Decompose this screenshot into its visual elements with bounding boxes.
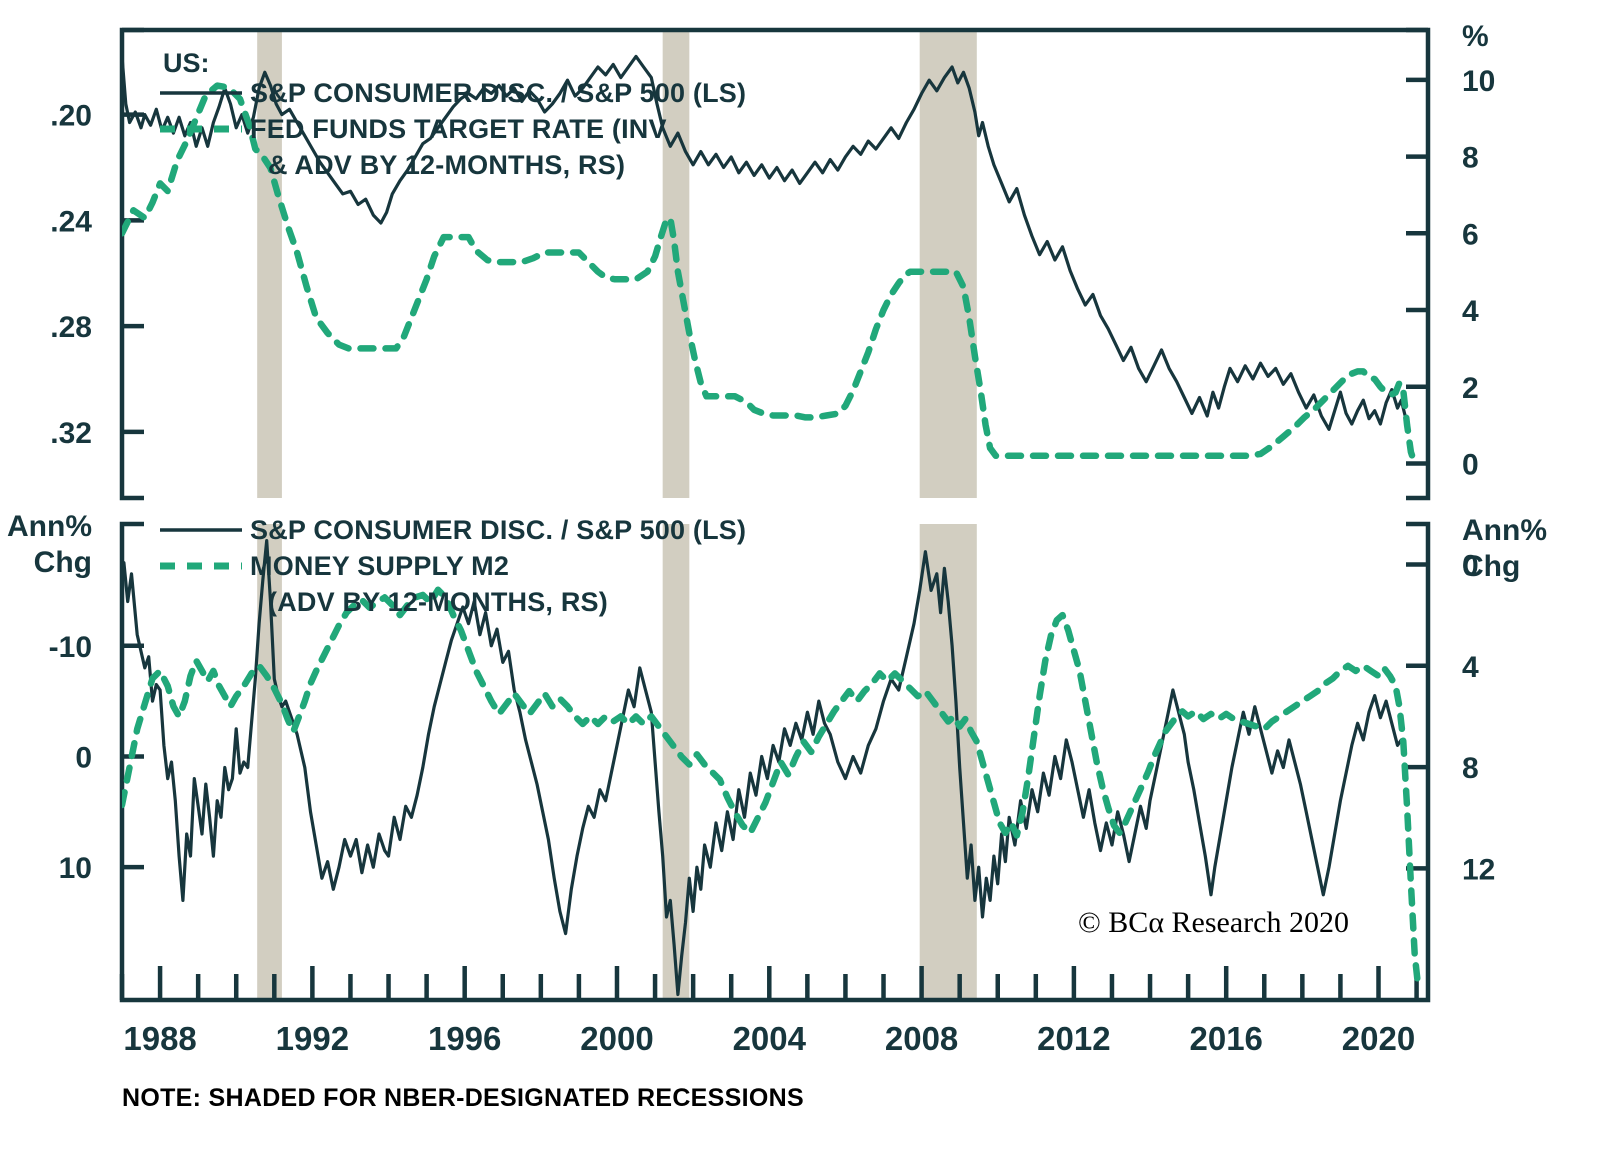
- y-axis-tick-label: 10: [1462, 65, 1495, 98]
- legend-label: S&P CONSUMER DISC. / S&P 500 (LS): [250, 515, 746, 545]
- x-axis-tick-label: 1996: [428, 1020, 501, 1057]
- y-axis-tick-label: 0: [75, 741, 92, 774]
- y-axis-tick-label: .24: [50, 205, 92, 238]
- y-axis-tick-label: 10: [59, 852, 92, 885]
- left-axis-unit-label: Chg: [34, 546, 92, 579]
- x-axis-tick-label: 2012: [1037, 1020, 1110, 1057]
- chart-background: [0, 0, 1600, 1160]
- chart-root: .20.24.28.320246810-1001004812%Ann%ChgAn…: [0, 0, 1600, 1160]
- y-axis-tick-label: 8: [1462, 142, 1479, 175]
- x-axis-tick-label: 2016: [1189, 1020, 1262, 1057]
- y-axis-tick-label: -10: [49, 631, 92, 664]
- y-axis-tick-label: 6: [1462, 218, 1479, 251]
- legend-label: & ADV BY 12-MONTHS, RS): [268, 150, 625, 180]
- x-axis-tick-label: 2000: [580, 1020, 653, 1057]
- y-axis-tick-label: 12: [1462, 853, 1495, 886]
- y-axis-tick-label: 2: [1462, 372, 1479, 405]
- y-axis-tick-label: .20: [50, 100, 92, 133]
- legend-label: FED FUNDS TARGET RATE (INV: [250, 114, 667, 144]
- y-axis-tick-label: 4: [1462, 295, 1479, 328]
- right-axis-unit-label: Chg: [1462, 550, 1520, 583]
- financial-chart: .20.24.28.320246810-1001004812%Ann%ChgAn…: [0, 0, 1600, 1160]
- y-axis-tick-label: .32: [50, 417, 92, 450]
- copyright-text: © BCα Research 2020: [1078, 906, 1349, 940]
- legend-label: S&P CONSUMER DISC. / S&P 500 (LS): [250, 78, 746, 108]
- x-axis-tick-label: 2004: [733, 1020, 807, 1057]
- right-axis-unit-label: %: [1462, 20, 1489, 53]
- y-axis-tick-label: 4: [1462, 651, 1479, 684]
- y-axis-tick-label: 8: [1462, 752, 1479, 785]
- chart-note: NOTE: SHADED FOR NBER-DESIGNATED RECESSI…: [122, 1084, 804, 1113]
- region-label: US:: [163, 48, 210, 78]
- x-axis-tick-label: 1988: [123, 1020, 196, 1057]
- recession-band: [920, 30, 977, 498]
- x-axis-tick-label: 2008: [885, 1020, 958, 1057]
- x-axis-tick-label: 1992: [276, 1020, 349, 1057]
- x-axis-tick-label: 2020: [1342, 1020, 1415, 1057]
- right-axis-unit-label: Ann%: [1462, 514, 1547, 547]
- legend-label: MONEY SUPPLY M2: [250, 551, 509, 581]
- left-axis-unit-label: Ann%: [7, 510, 92, 543]
- y-axis-tick-label: 0: [1462, 448, 1479, 481]
- legend-label: (ADV BY 12-MONTHS, RS): [268, 587, 608, 617]
- y-axis-tick-label: .28: [50, 311, 92, 344]
